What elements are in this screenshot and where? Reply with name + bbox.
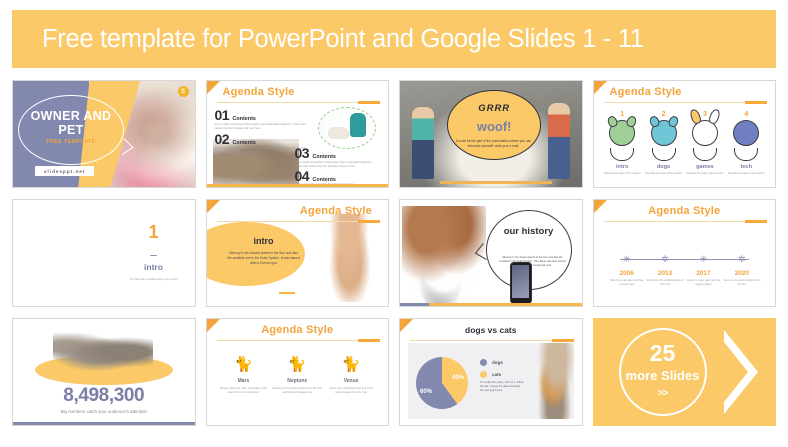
avatar-bubble-icon bbox=[610, 148, 634, 161]
timeline-year: 2013 bbox=[646, 270, 684, 277]
avatar-desc: Describe the topic of the section bbox=[644, 172, 684, 176]
corner-accent-icon bbox=[400, 319, 413, 332]
rabbit-face-icon bbox=[692, 120, 718, 146]
bottom-bar bbox=[207, 184, 389, 187]
pie-label-cats: 40% bbox=[452, 375, 464, 381]
column-item-neptune[interactable]: 🐈 Neptune Neptune is the farthest planet… bbox=[271, 355, 323, 395]
banner-title: Free template for PowerPoint and Google … bbox=[42, 25, 644, 54]
big-number: 8,498,300 bbox=[13, 385, 195, 407]
cat-silhouette-icon: 🐈 bbox=[325, 355, 377, 375]
slide-grid: OWNER AND PET FREE TEMPLATE slidesppt.ne… bbox=[12, 80, 776, 426]
column-desc: Neptune is the farthest planet from the … bbox=[271, 387, 323, 395]
winking-dog-photo bbox=[402, 206, 486, 306]
slide-thumbnail-our-history[interactable]: our history Mercury is the closest plane… bbox=[399, 199, 583, 307]
pet-icon: ✲ bbox=[646, 252, 684, 267]
timeline-year: 2006 bbox=[608, 270, 646, 277]
timeline-points: ✳ 2006 Saturn is a gas giant and has sev… bbox=[608, 252, 762, 287]
cta-arrow-text: >> bbox=[619, 388, 707, 399]
column-item-mars[interactable]: 🐈 Mars Despite being red, Mars is actual… bbox=[217, 355, 269, 395]
legend-swatch-icon bbox=[480, 371, 487, 378]
avatar-label: games bbox=[685, 164, 725, 170]
legend-swatch-icon bbox=[480, 359, 487, 366]
avatar-label: tech bbox=[726, 164, 766, 170]
slide-title: Agenda Style bbox=[207, 324, 389, 336]
slide-thumbnail-big-number[interactable]: 8,498,300 Big numbers catch your audienc… bbox=[12, 318, 196, 426]
column-name: Neptune bbox=[271, 378, 323, 384]
slide-thumbnail-agenda-avatars[interactable]: Agenda Style 1 intro Describe the topic … bbox=[593, 80, 777, 188]
timeline-desc: Jupiter is a gas giant and the biggest p… bbox=[684, 279, 722, 287]
timeline-point[interactable]: ✳ 2006 Saturn is a gas giant and has sev… bbox=[608, 252, 646, 287]
column-row: 🐈 Mars Despite being red, Mars is actual… bbox=[207, 355, 389, 395]
avatar-number: 4 bbox=[726, 111, 766, 118]
smartphone-mockup bbox=[510, 262, 532, 304]
title-rule bbox=[217, 102, 379, 103]
chart-note: To modify this graph, click on it, follo… bbox=[480, 381, 524, 392]
agenda-number: 04 bbox=[295, 168, 310, 184]
slide-thumbnail-dogs-vs-cats[interactable]: dogs vs cats 40% 60% dogs cats To modify… bbox=[399, 318, 583, 426]
slide-thumbnail-cover[interactable]: OWNER AND PET FREE TEMPLATE slidesppt.ne… bbox=[12, 80, 196, 188]
cat-silhouette-icon: 🐈 bbox=[217, 355, 269, 375]
timeline: ✳ 2006 Saturn is a gas giant and has sev… bbox=[608, 252, 762, 287]
pet-icon: ✳ bbox=[608, 252, 646, 267]
section-number: 1 bbox=[133, 222, 175, 243]
pet-icon: ✲ bbox=[723, 252, 761, 267]
chart-title: dogs vs cats bbox=[400, 325, 582, 335]
slide-title: Agenda Style bbox=[594, 205, 776, 217]
history-title: our history bbox=[486, 226, 572, 237]
avatar-bubble-icon bbox=[652, 148, 676, 161]
avatar-item-games[interactable]: 3 games Describe the topic of the sectio… bbox=[685, 111, 725, 175]
header-banner: Free template for PowerPoint and Google … bbox=[12, 10, 776, 68]
avatar-desc: Describe the topic of the section bbox=[685, 172, 725, 176]
avatar-item-dogs[interactable]: 2 dogs Describe the topic of the section bbox=[644, 111, 684, 175]
cta-count: 25 bbox=[619, 340, 707, 367]
woof-text: woof! bbox=[447, 119, 541, 134]
bottom-strip bbox=[440, 181, 553, 184]
intro-desc: Mercury is the closest planet to the Sun… bbox=[227, 251, 301, 265]
person-right-illustration bbox=[548, 103, 570, 179]
slide-title: Agenda Style bbox=[207, 205, 389, 217]
grrr-text: GRRR bbox=[447, 103, 541, 114]
slide-thumbnail-more-slides[interactable]: 25 more Slides >> bbox=[593, 318, 777, 426]
section-desc: You can enter a subtitle here if you nee… bbox=[121, 278, 187, 282]
cat-face-icon bbox=[651, 120, 677, 146]
title-rule bbox=[410, 340, 572, 341]
legend-item-dogs: dogs bbox=[480, 359, 503, 366]
big-number-caption: Big numbers catch your audience's attent… bbox=[13, 409, 195, 414]
title-rule bbox=[604, 102, 766, 103]
person-left-illustration bbox=[412, 107, 434, 179]
slide-thumbnail-timeline[interactable]: Agenda Style ✳ 2006 Saturn is a gas gian… bbox=[593, 199, 777, 307]
legend-label: cats bbox=[492, 372, 501, 377]
agenda-number: 03 bbox=[295, 145, 310, 161]
timeline-desc: Mercury is the smallest planet of them a… bbox=[646, 279, 684, 287]
corner-accent-icon bbox=[207, 319, 220, 332]
cta-label: more Slides bbox=[613, 368, 713, 383]
title-rule bbox=[604, 221, 766, 222]
avatar-desc: Describe the topic of the section bbox=[726, 172, 766, 176]
agenda-label: Contents bbox=[233, 140, 256, 146]
timeline-point[interactable]: ✳ 2017 Jupiter is a gas giant and the bi… bbox=[684, 252, 722, 287]
avatar-desc: Describe the topic of the section bbox=[602, 172, 642, 176]
avatar-row: 1 intro Describe the topic of the sectio… bbox=[594, 111, 776, 175]
bottom-bar bbox=[13, 422, 195, 425]
agenda-label: Contents bbox=[313, 154, 336, 160]
slide-title: Agenda Style bbox=[594, 86, 776, 98]
vet-figure-icon bbox=[350, 113, 366, 137]
woof-description: It could be the part of the presentation… bbox=[454, 139, 532, 149]
pet-icon: ✳ bbox=[684, 252, 722, 267]
bird-face-icon bbox=[733, 120, 759, 146]
pie-label-dogs: 60% bbox=[420, 389, 432, 395]
history-desc: Mercury is the closest planet to the Sun… bbox=[498, 256, 568, 267]
column-name: Mars bbox=[217, 378, 269, 384]
avatar-item-intro[interactable]: 1 intro Describe the topic of the sectio… bbox=[602, 111, 642, 175]
timeline-point[interactable]: ✲ 2013 Mercury is the smallest planet of… bbox=[646, 252, 684, 287]
column-desc: Venus has a beautiful name and is the se… bbox=[325, 387, 377, 395]
legend-item-cats: cats bbox=[480, 371, 503, 378]
corner-accent-icon bbox=[207, 81, 220, 94]
slide-thumbnail-woof[interactable]: GRRR woof! It could be the part of the p… bbox=[399, 80, 583, 188]
bottom-bar-accent bbox=[400, 303, 429, 306]
slide-thumbnail-section-intro[interactable]: 1 ⚊ intro You can enter a subtitle here … bbox=[12, 199, 196, 307]
agenda-label: Contents bbox=[233, 116, 256, 122]
agenda-text: Get a modern PowerPoint Presentation tha… bbox=[215, 147, 307, 155]
chevron-right-icon bbox=[724, 330, 758, 414]
agenda-text: Get a modern PowerPoint Presentation tha… bbox=[215, 123, 307, 131]
timeline-desc: Venus is the second planet from the Sun bbox=[723, 279, 761, 287]
timeline-year: 2020 bbox=[723, 270, 761, 277]
cover-title: OWNER AND PET bbox=[27, 109, 115, 137]
dog-face-icon bbox=[609, 120, 635, 146]
bone-icon: ⚊ bbox=[133, 248, 175, 259]
cat-silhouette-icon: 🐈 bbox=[271, 355, 323, 375]
slide-thumbnail-agenda-numbered[interactable]: Agenda Style 01 Contents Get a modern Po… bbox=[206, 80, 390, 188]
dog-photo bbox=[21, 208, 93, 307]
avatar-bubble-icon bbox=[693, 148, 717, 161]
corner-accent-icon bbox=[207, 200, 220, 213]
vet-dog-icon bbox=[328, 127, 350, 139]
avatar-label: intro bbox=[602, 164, 642, 170]
jumping-cat-photo bbox=[53, 333, 153, 373]
cover-subtitle: FREE TEMPLATE bbox=[27, 139, 115, 145]
accent-tick bbox=[279, 292, 295, 295]
section-label: intro bbox=[127, 262, 181, 272]
brand-logo-icon: S bbox=[178, 86, 189, 97]
legend-label: dogs bbox=[492, 360, 503, 365]
avatar-label: dogs bbox=[644, 164, 684, 170]
pets-photo bbox=[532, 343, 576, 419]
slide-title: Agenda Style bbox=[207, 86, 389, 98]
timeline-year: 2017 bbox=[684, 270, 722, 277]
column-desc: Despite being red, Mars is actually a co… bbox=[217, 387, 269, 395]
avatar-bubble-icon bbox=[734, 148, 758, 161]
agenda-number: 01 bbox=[215, 107, 230, 123]
title-rule bbox=[217, 221, 379, 222]
intro-label: intro bbox=[227, 236, 301, 246]
corner-accent-icon bbox=[594, 200, 607, 213]
timeline-point[interactable]: ✲ 2020 Venus is the second planet from t… bbox=[723, 252, 761, 287]
pie-chart bbox=[416, 357, 468, 409]
slide-thumbnail-intro-ellipse[interactable]: Agenda Style intro Mercury is the closes… bbox=[206, 199, 390, 307]
cover-badge: slidesppt.net bbox=[35, 166, 94, 176]
column-name: Venus bbox=[325, 378, 377, 384]
slide-thumbnail-agenda-three[interactable]: Agenda Style 🐈 Mars Despite being red, M… bbox=[206, 318, 390, 426]
corner-accent-icon bbox=[594, 81, 607, 94]
chart-legend: dogs cats bbox=[480, 359, 503, 383]
column-item-venus[interactable]: 🐈 Venus Venus has a beautiful name and i… bbox=[325, 355, 377, 395]
avatar-item-tech[interactable]: 4 tech Describe the topic of the section bbox=[726, 111, 766, 175]
chihuahua-photo bbox=[326, 214, 374, 302]
agenda-number: 02 bbox=[215, 131, 230, 147]
title-rule bbox=[217, 340, 379, 341]
timeline-desc: Saturn is a gas giant and has several ri… bbox=[608, 279, 646, 287]
